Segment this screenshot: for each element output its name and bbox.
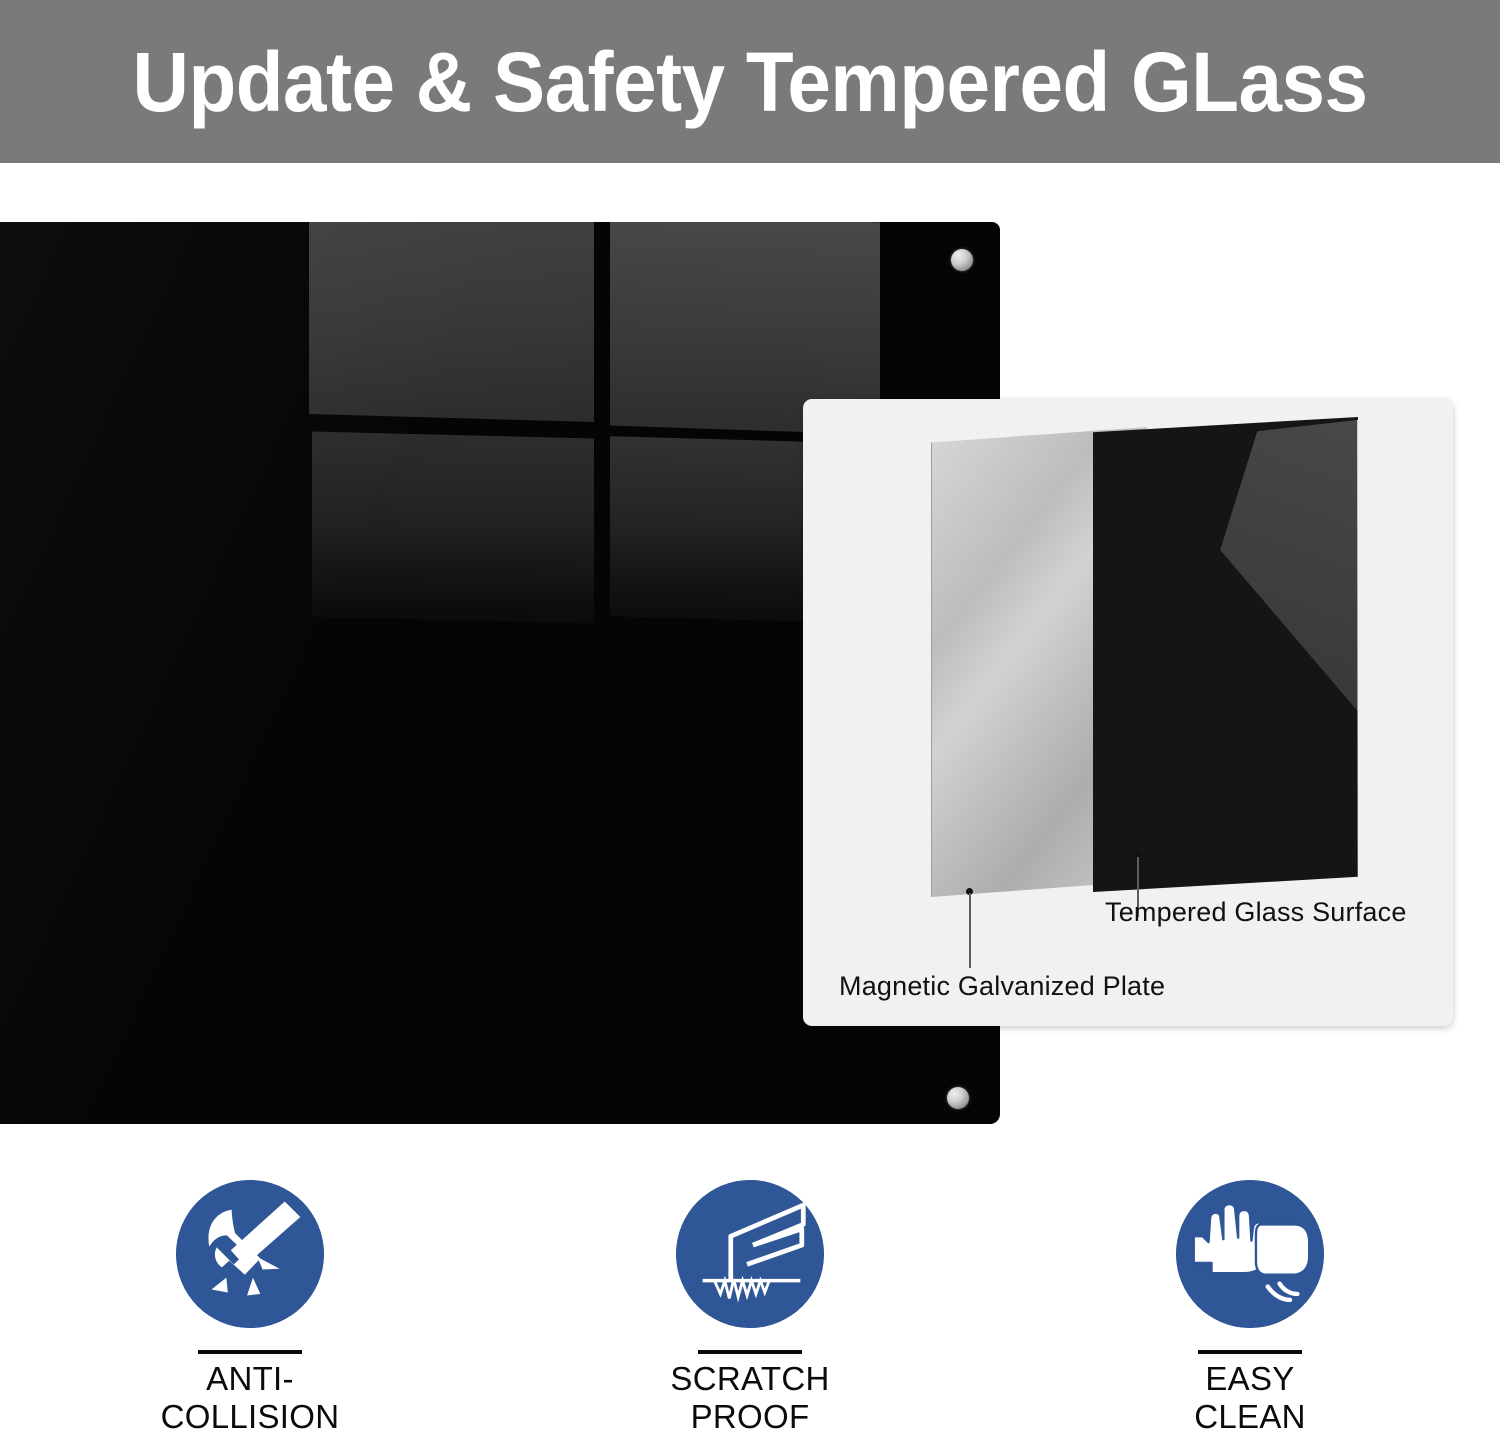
tempered-glass-surface-shape [1093, 417, 1358, 892]
feature-label-easy-clean: EASY CLEAN [1194, 1360, 1306, 1435]
feature-row: ANTI- COLLISION SCRATCH PROOF [0, 1180, 1500, 1435]
feature-label-scratch-proof: SCRATCH PROOF [670, 1360, 829, 1435]
callout-label-magnetic-plate: Magnetic Galvanized Plate [839, 971, 1165, 1002]
hammer-impact-icon [176, 1180, 324, 1328]
page-title: Update & Safety Tempered GLass [53, 0, 1448, 163]
feature-rule [198, 1350, 302, 1354]
screw-cap-bottom-right-icon [947, 1087, 969, 1109]
feature-scratch-proof: SCRATCH PROOF [500, 1180, 1000, 1435]
feature-anti-collision: ANTI- COLLISION [0, 1180, 500, 1435]
glass-highlight [1093, 417, 1358, 892]
glass-edge-highlight [1357, 417, 1360, 892]
feature-rule [698, 1350, 802, 1354]
product-infographic: Update & Safety Tempered GLass Tempered … [0, 0, 1500, 1435]
feature-rule [1198, 1350, 1302, 1354]
screw-cap-top-right-icon [951, 249, 973, 271]
layer-stack: Tempered Glass Surface Magnetic Galvaniz… [803, 399, 1453, 1026]
hand-wipe-clean-icon [1176, 1180, 1324, 1328]
layer-detail-panel: Tempered Glass Surface Magnetic Galvaniz… [803, 399, 1453, 1026]
feature-label-anti-collision: ANTI- COLLISION [161, 1360, 340, 1435]
callout-line-magnetic-plate [969, 893, 971, 968]
feature-easy-clean: EASY CLEAN [1000, 1180, 1500, 1435]
blade-scratch-icon [676, 1180, 824, 1328]
callout-label-tempered-glass: Tempered Glass Surface [1105, 897, 1407, 928]
